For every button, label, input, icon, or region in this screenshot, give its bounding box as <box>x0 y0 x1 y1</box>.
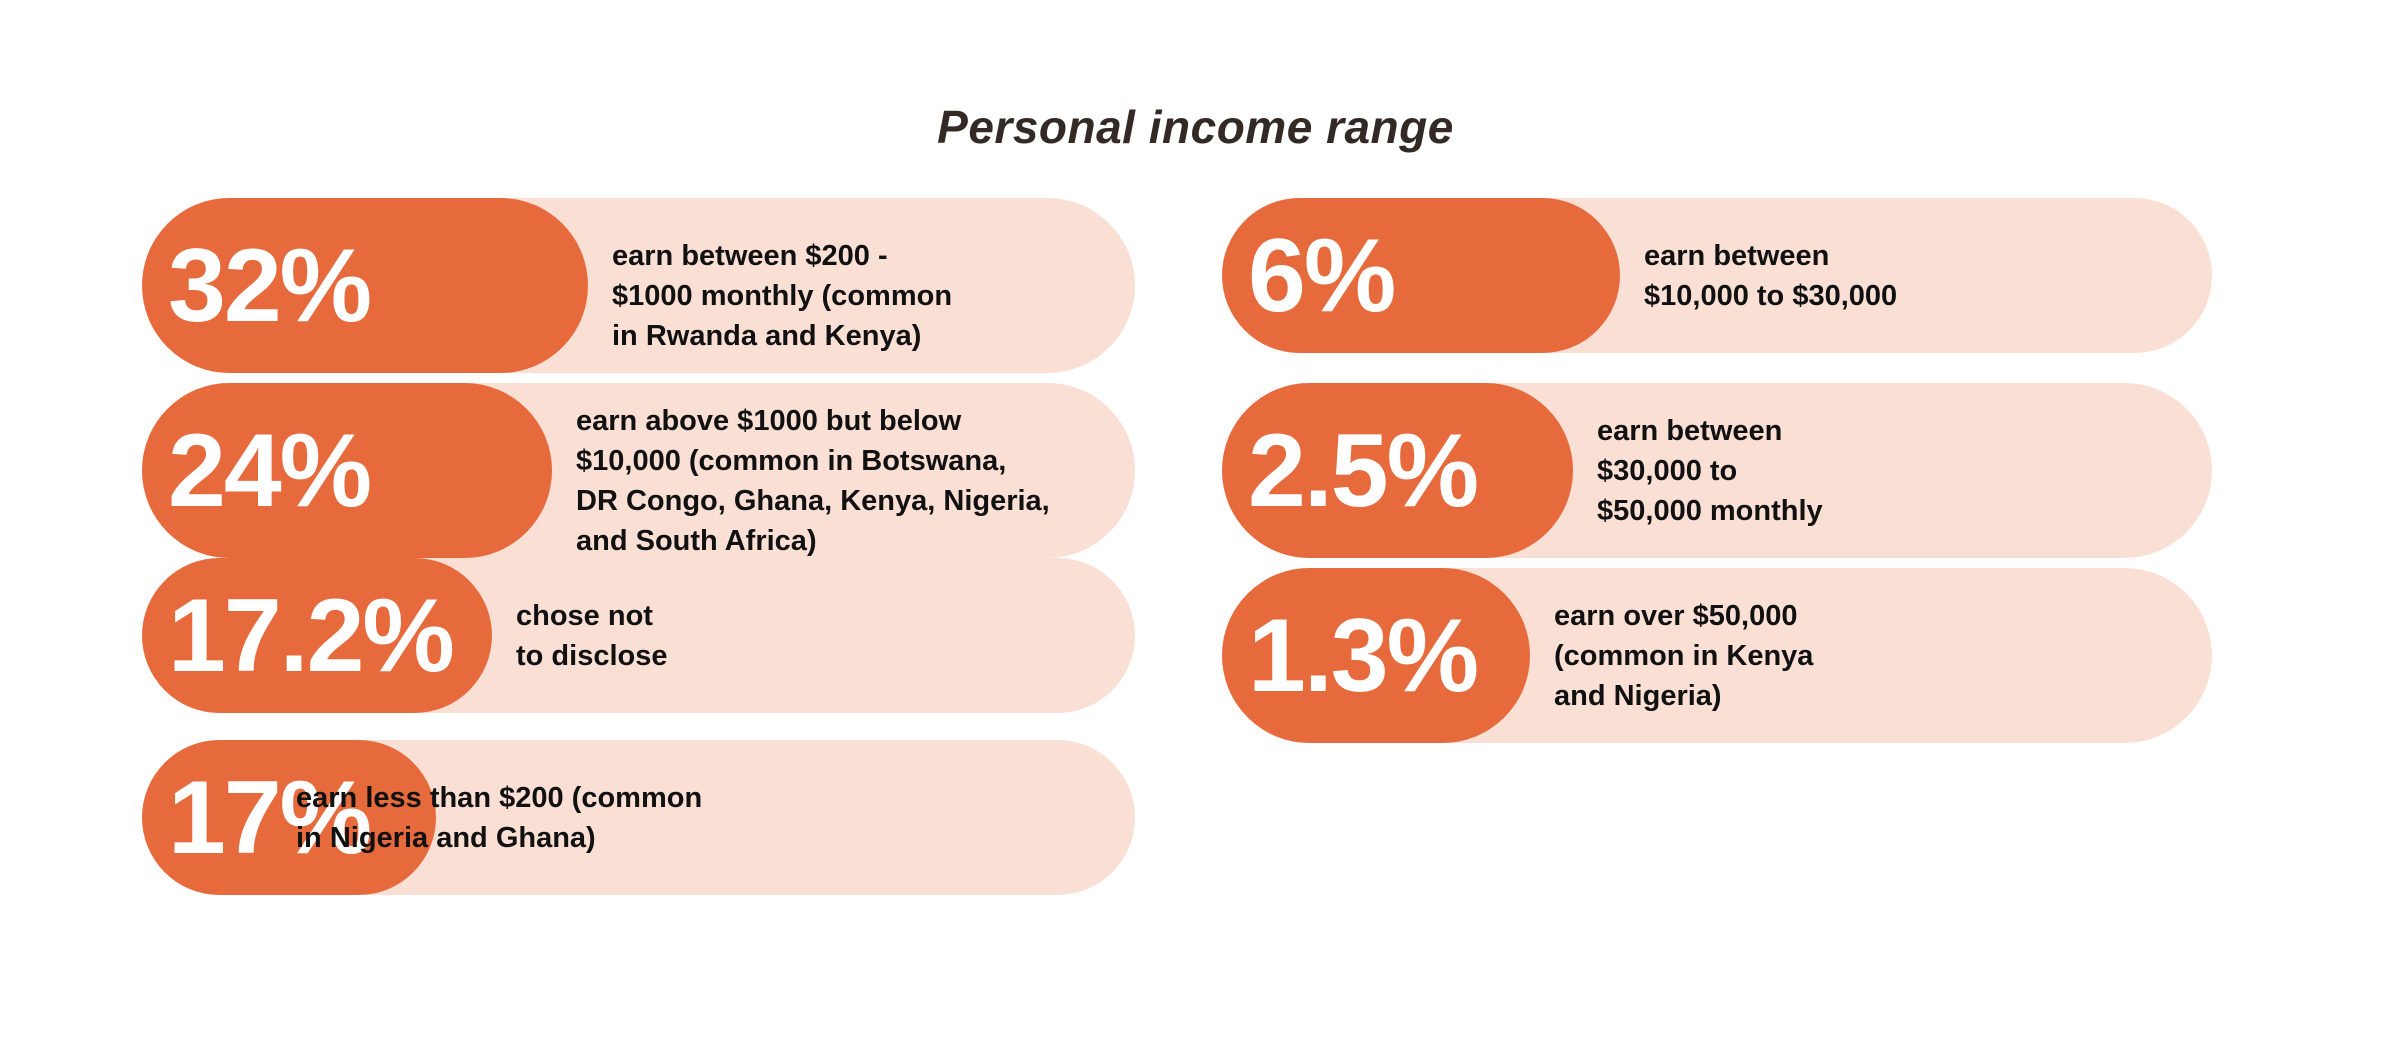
bar-row: 17.2% chose not to disclose <box>142 558 1135 713</box>
bar-description: chose not to disclose <box>516 596 668 676</box>
bar-row: 1.3% earn over $50,000 (common in Kenya … <box>1222 568 2212 743</box>
bar-row: 24% earn above $1000 but below $10,000 (… <box>142 383 1135 558</box>
bar-row: 6% earn between $10,000 to $30,000 <box>1222 198 2212 353</box>
bar-description: earn between $10,000 to $30,000 <box>1644 236 1897 316</box>
bar-value: 1.3% <box>1248 604 1477 708</box>
bar-value: 6% <box>1248 224 1394 328</box>
bar-row: 17% earn less than $200 (common in Niger… <box>142 740 1135 895</box>
page-title: Personal income range <box>0 100 2391 154</box>
bar-value: 32% <box>168 234 370 338</box>
bar-fill: 2.5% <box>1222 383 1573 558</box>
bar-fill: 24% <box>142 383 552 558</box>
bar-value: 2.5% <box>1248 419 1477 523</box>
bar-fill: 17.2% <box>142 558 492 713</box>
bar-row: 2.5% earn between $30,000 to $50,000 mon… <box>1222 383 2212 558</box>
bar-value: 17.2% <box>168 584 453 688</box>
bar-fill: 6% <box>1222 198 1620 353</box>
infographic-canvas: Personal income range 32% earn between $… <box>0 0 2391 1053</box>
bar-description: earn above $1000 but below $10,000 (comm… <box>576 401 1050 561</box>
bar-description: earn between $200 - $1000 monthly (commo… <box>612 236 952 356</box>
bar-fill: 1.3% <box>1222 568 1530 743</box>
bar-row: 32% earn between $200 - $1000 monthly (c… <box>142 198 1135 373</box>
bar-description: earn less than $200 (common in Nigeria a… <box>296 778 702 858</box>
bar-fill: 32% <box>142 198 588 373</box>
bar-value: 24% <box>168 419 370 523</box>
bar-description: earn between $30,000 to $50,000 monthly <box>1597 411 1823 531</box>
bar-description: earn over $50,000 (common in Kenya and N… <box>1554 596 1813 716</box>
